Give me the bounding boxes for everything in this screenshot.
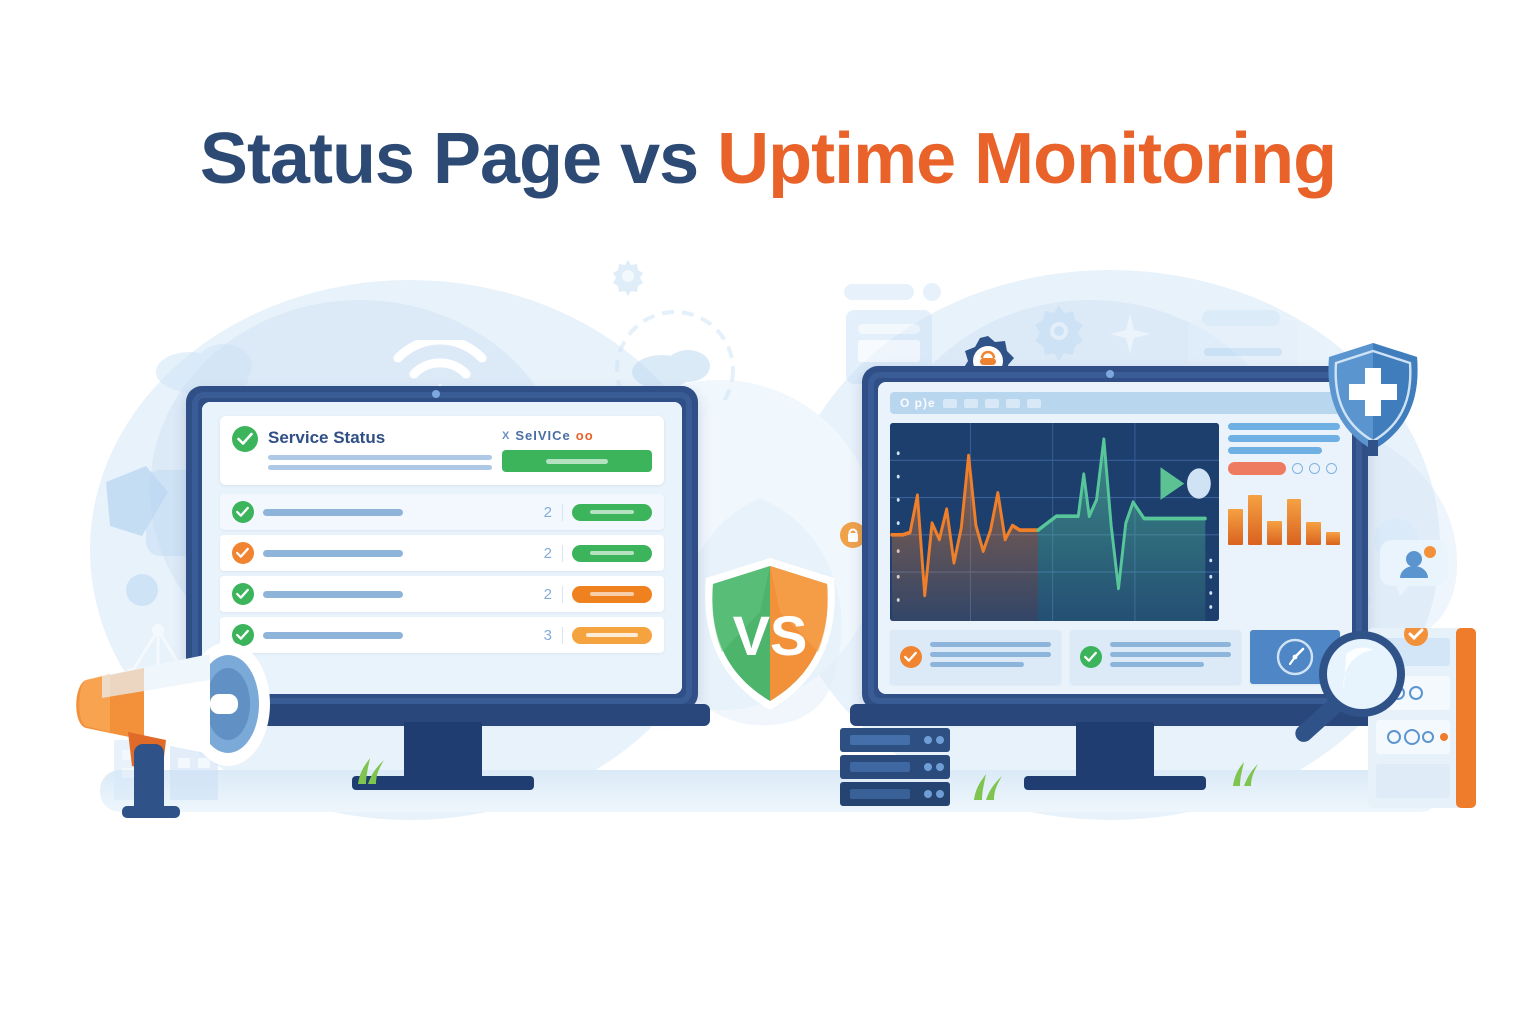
vs-label: VS xyxy=(733,604,808,667)
megaphone-icon xyxy=(58,628,306,818)
shield-cross-icon xyxy=(1324,340,1422,456)
status-badge-label xyxy=(586,633,638,637)
illustration-canvas: Service Status X SeIVICe oo xyxy=(0,0,1536,1024)
bar xyxy=(1306,522,1321,545)
status-ring-icon xyxy=(1326,463,1337,474)
toolbar-segment[interactable] xyxy=(943,399,957,408)
status-ring-icon xyxy=(1292,463,1303,474)
chart-svg xyxy=(890,423,1219,621)
check-circle-green-icon xyxy=(232,426,258,452)
status-badge-label xyxy=(590,510,634,514)
status-page-header-main: Service Status xyxy=(268,426,492,475)
dashboard-body xyxy=(890,423,1340,621)
title-part-orange: Uptime Monitoring xyxy=(717,119,1336,199)
response-time-chart xyxy=(890,423,1219,621)
service-name-placeholder xyxy=(263,591,403,598)
alert-row xyxy=(1228,462,1340,475)
dashboard-title: O p)e xyxy=(900,396,936,410)
status-badge-label xyxy=(590,592,634,596)
status-dot-marker xyxy=(1187,468,1211,498)
status-ring-icon xyxy=(1309,463,1320,474)
brand-x-mark: X xyxy=(502,430,510,442)
list-item[interactable] xyxy=(890,630,1061,684)
check-circle-green-icon xyxy=(232,583,254,605)
gear-icon xyxy=(608,256,648,296)
monitor-stand-neck xyxy=(404,722,482,782)
placeholder-lines xyxy=(268,455,492,470)
status-page-brand-area: X SeIVICe oo xyxy=(502,426,652,472)
status-badge xyxy=(572,545,652,562)
status-badge xyxy=(572,586,652,603)
sparkle-icon xyxy=(1108,312,1152,356)
placeholder-line xyxy=(1228,447,1322,454)
monitor-camera-dot xyxy=(432,390,440,398)
gear-icon xyxy=(1030,302,1088,360)
grass-decoration xyxy=(968,772,1014,805)
placeholder-lines xyxy=(930,642,1051,672)
brand-name: SeIVICe xyxy=(515,428,570,443)
check-circle-orange-icon xyxy=(232,542,254,564)
status-badge-label xyxy=(590,551,634,555)
cloud-icon xyxy=(600,300,750,400)
incident-bar-chart xyxy=(1228,487,1340,545)
brand-logo: X SeIVICe oo xyxy=(502,428,652,443)
check-circle-green-icon xyxy=(1080,646,1102,668)
bar xyxy=(1248,495,1263,545)
bar xyxy=(1267,521,1282,545)
table-row[interactable]: 2 xyxy=(220,494,664,530)
subscribe-button-label xyxy=(546,459,608,464)
magnifier-icon xyxy=(1288,626,1416,762)
dashboard-top-bar: O p)e xyxy=(890,392,1340,414)
grass-decoration xyxy=(352,756,396,789)
toolbar-segment[interactable] xyxy=(1027,399,1041,408)
monitor-stand-neck xyxy=(1076,722,1154,782)
dashboard-cards xyxy=(890,630,1340,684)
check-circle-green-icon xyxy=(232,501,254,523)
server-stack-icon xyxy=(836,726,964,808)
list-item[interactable] xyxy=(1070,630,1241,684)
vs-shield-badge: VS xyxy=(688,552,852,716)
alert-badge xyxy=(1228,462,1286,475)
monitor-camera-dot xyxy=(1106,370,1114,378)
toolbar-segment[interactable] xyxy=(964,399,978,408)
service-name-placeholder xyxy=(263,509,403,516)
monitor-screen: O p)e xyxy=(878,382,1352,694)
bar xyxy=(1326,532,1341,545)
brand-suffix: oo xyxy=(576,428,594,443)
status-badge xyxy=(572,627,652,644)
monitoring-dashboard-app: O p)e xyxy=(878,382,1352,694)
table-row[interactable]: 2 xyxy=(220,576,664,612)
service-meta: 3 xyxy=(412,627,563,644)
user-badge-icon xyxy=(1378,538,1450,596)
title-part-navy: Status Page vs xyxy=(200,119,717,199)
page-title: Service Status xyxy=(268,429,492,446)
service-name-placeholder xyxy=(263,550,403,557)
service-meta: 2 xyxy=(412,586,563,603)
status-page-header: Service Status X SeIVICe oo xyxy=(220,416,664,485)
grass-decoration xyxy=(1228,760,1268,791)
check-circle-orange-icon xyxy=(900,646,922,668)
table-row[interactable]: 2 xyxy=(220,535,664,571)
monitor-stand-base xyxy=(1024,776,1206,790)
toolbar-segment[interactable] xyxy=(1006,399,1020,408)
bar xyxy=(1228,509,1243,545)
page-title: Status Page vs Uptime Monitoring xyxy=(0,122,1536,198)
service-meta: 2 xyxy=(412,545,563,562)
bar xyxy=(1287,499,1302,545)
toolbar-segment[interactable] xyxy=(985,399,999,408)
status-badge xyxy=(572,504,652,521)
subscribe-button[interactable] xyxy=(502,450,652,472)
placeholder-lines xyxy=(1110,642,1231,672)
service-meta: 2 xyxy=(412,504,563,521)
